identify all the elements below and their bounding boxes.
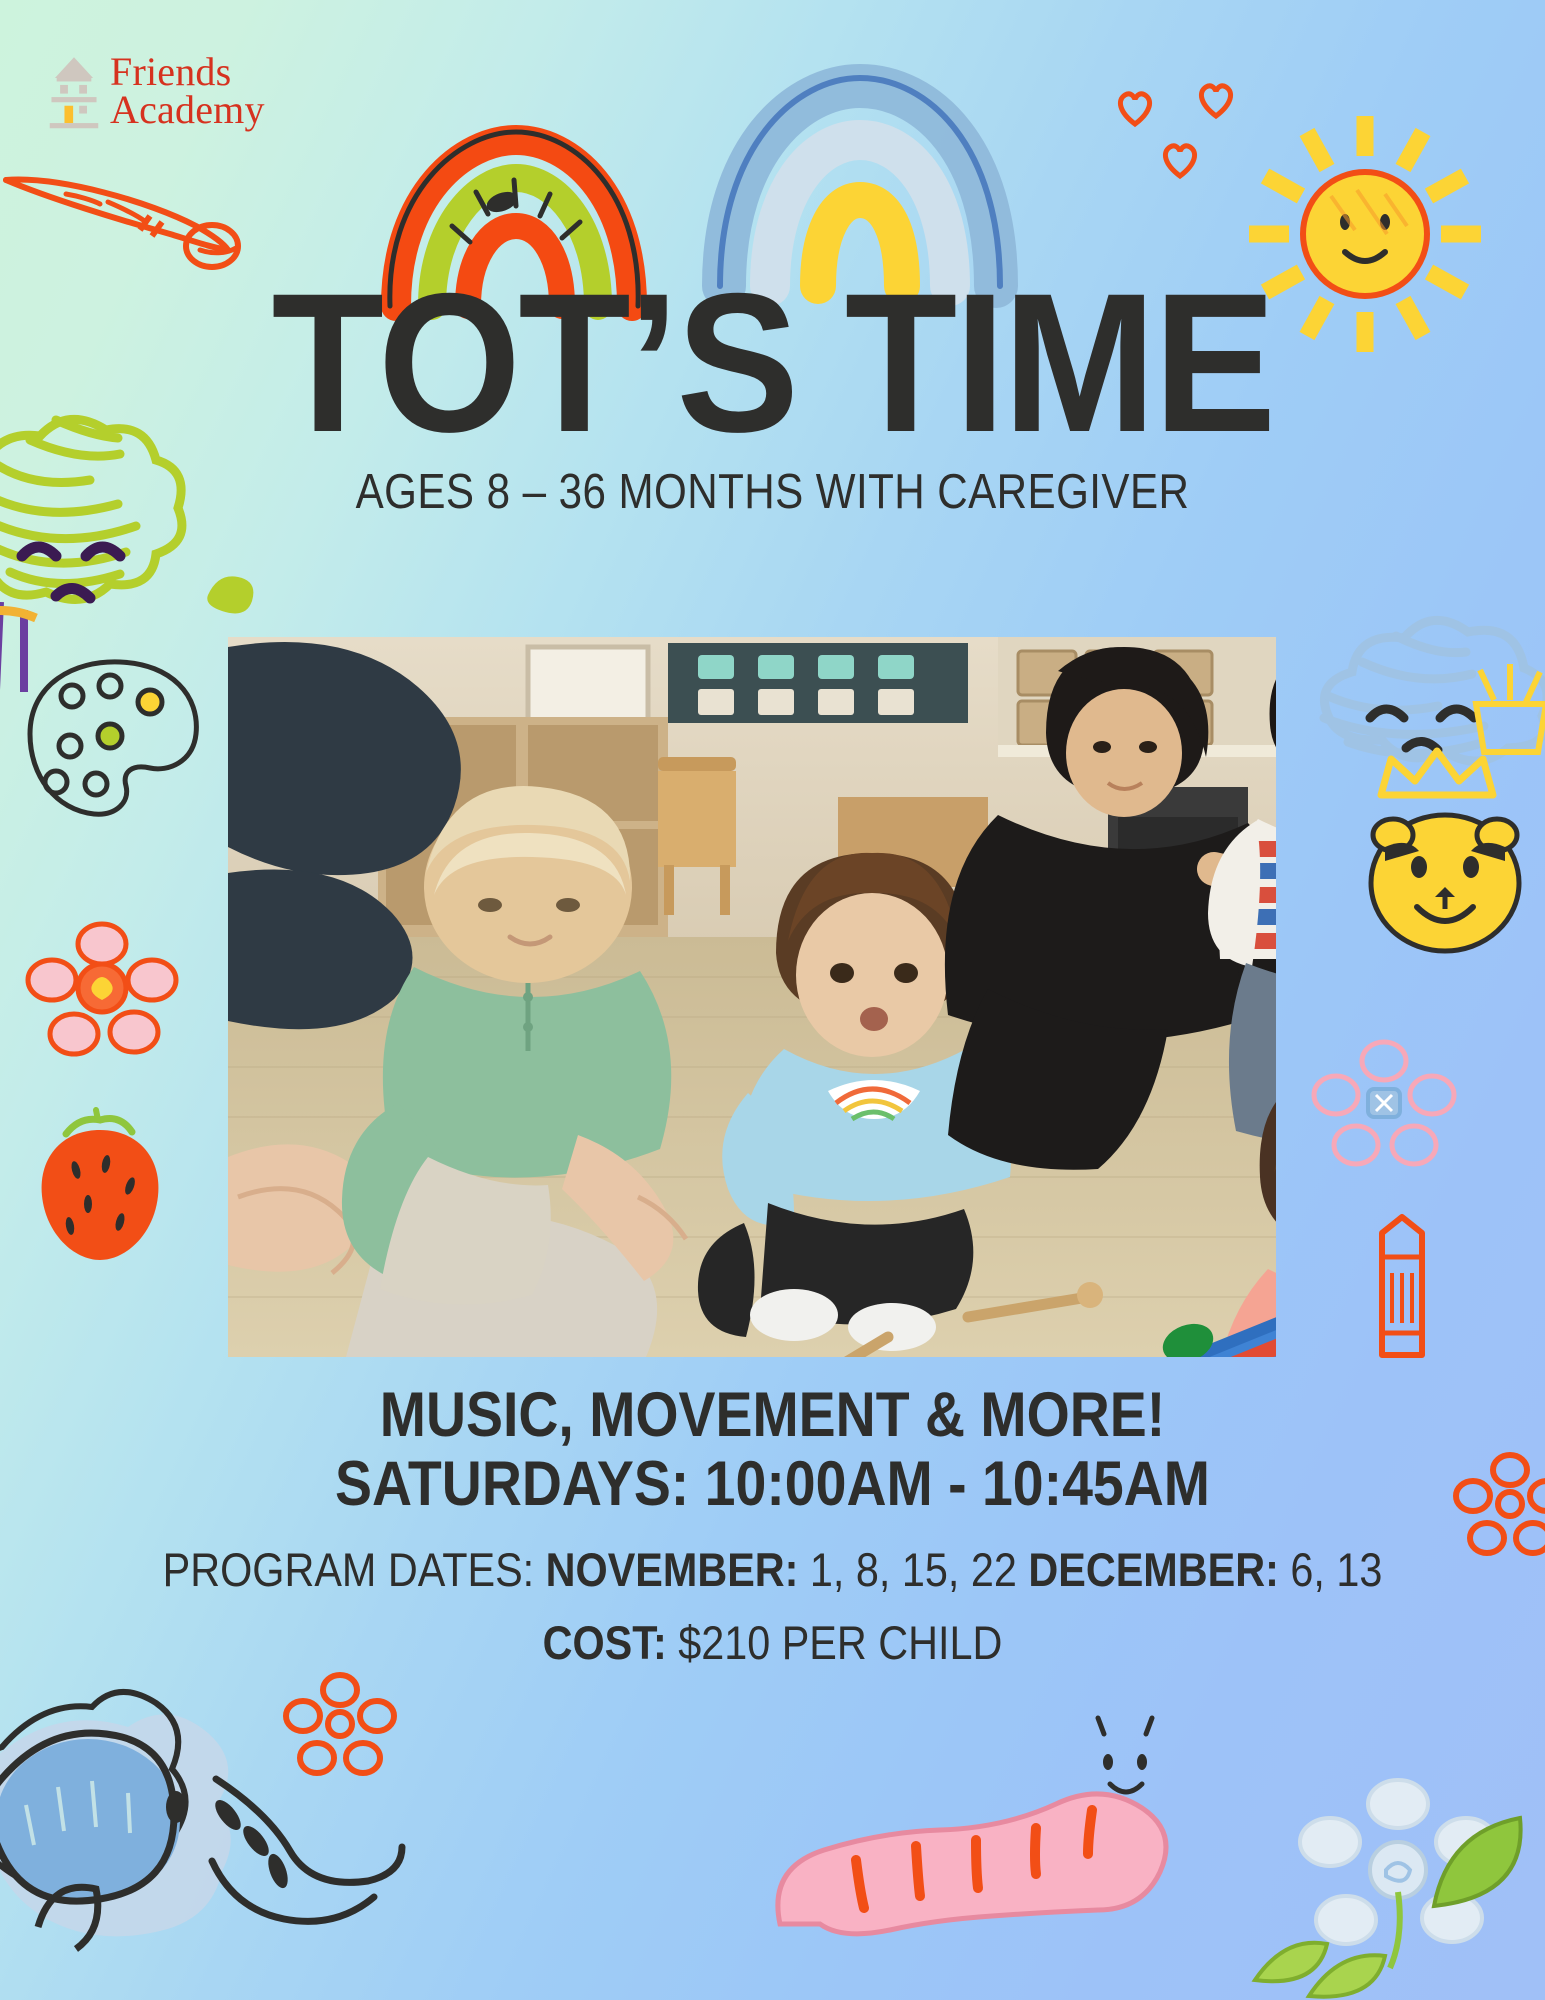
schoolhouse-icon <box>48 52 100 130</box>
red-flower-icon <box>28 920 178 1060</box>
white-daisy-icon <box>1290 1770 1510 1980</box>
schedule-line: SATURDAYS: 10:00AM - 10:45AM <box>93 1451 1453 1518</box>
poster-canvas: Friends Academy TOT’S TIME AGES 8 – 36 M… <box>0 0 1545 2000</box>
flower-sketch-icon <box>1310 1035 1460 1175</box>
paintbrush-icon <box>0 168 240 258</box>
page-subtitle: AGES 8 – 36 MONTHS WITH CAREGIVER <box>108 464 1437 520</box>
lion-icon <box>1345 755 1545 975</box>
paint-palette-icon <box>10 650 210 830</box>
month-2-days: 6, 13 <box>1290 1543 1382 1596</box>
blue-cloud-icon <box>1300 600 1540 790</box>
program-dates-label: PROGRAM DATES: <box>163 1543 535 1596</box>
month-1-days: 1, 8, 15, 22 <box>810 1543 1017 1596</box>
month-1-label: NOVEMBER: <box>546 1543 799 1596</box>
heart-icon <box>1160 140 1200 180</box>
friends-academy-logo: Friends Academy <box>48 52 265 130</box>
cost-label: COST: <box>543 1616 667 1669</box>
tagline: MUSIC, MOVEMENT & MORE! <box>93 1382 1453 1449</box>
page-title: TOT’S TIME <box>54 276 1491 450</box>
month-2-label: DECEMBER: <box>1028 1543 1278 1596</box>
photo-illustration <box>228 637 1276 1357</box>
flower-sketch-icon <box>1460 660 1545 770</box>
crayon-icon <box>1340 1215 1460 1375</box>
strawberry-icon <box>26 1110 176 1270</box>
info-block: MUSIC, MOVEMENT & MORE! SATURDAYS: 10:00… <box>0 1382 1545 1669</box>
headline-block: TOT’S TIME AGES 8 – 36 MONTHS WITH CAREG… <box>0 276 1545 520</box>
program-dates-line: PROGRAM DATES: NOVEMBER: 1, 8, 15, 22 DE… <box>93 1544 1453 1596</box>
logo-line-2: Academy <box>110 91 265 129</box>
program-photo <box>228 637 1276 1357</box>
green-leaf-icon <box>1245 1920 1395 2000</box>
heart-icon <box>1115 88 1155 128</box>
pink-worm-icon <box>760 1718 1180 1948</box>
cost-value: $210 PER CHILD <box>678 1616 1002 1669</box>
cost-line: COST: $210 PER CHILD <box>93 1617 1453 1669</box>
orange-flower-icon <box>285 1670 395 1780</box>
green-leaf-icon <box>1420 1810 1545 1920</box>
logo-line-1: Friends <box>110 53 265 91</box>
green-scribble-dot-icon <box>200 555 260 615</box>
elephant-icon <box>0 1675 310 2000</box>
heart-icon <box>1196 80 1236 120</box>
logo-wordmark: Friends Academy <box>110 53 265 129</box>
